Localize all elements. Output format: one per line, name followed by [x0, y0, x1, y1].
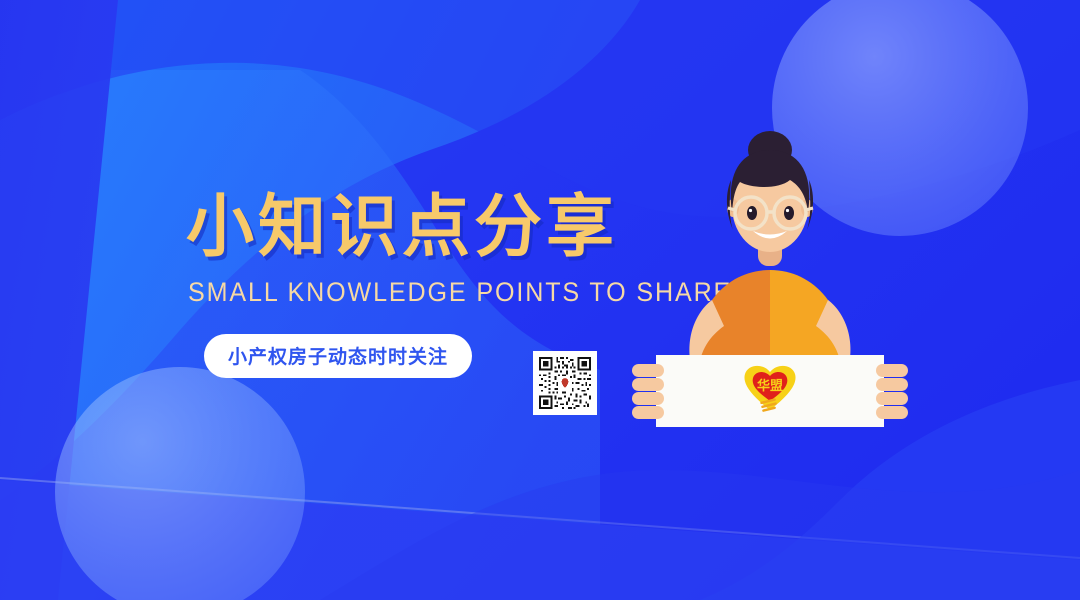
- logo-text: 华盟: [757, 378, 783, 394]
- promo-banner: 小知识点分享 SMALL KNOWLEDGE POINTS TO SHARE 小…: [0, 0, 1080, 600]
- eye-right: [784, 206, 794, 220]
- qr-code[interactable]: [533, 351, 597, 415]
- page-subtitle: SMALL KNOWLEDGE POINTS TO SHARE: [188, 277, 623, 308]
- page-title: 小知识点分享: [186, 192, 656, 263]
- woman-holding-sign-graphic: 华盟: [600, 120, 940, 460]
- qr-code-icon: [537, 355, 593, 411]
- eye-highlight-left: [749, 209, 752, 212]
- character-illustration: 华盟: [600, 120, 940, 460]
- eye-highlight-right: [786, 209, 789, 212]
- tagline-pill[interactable]: 小产权房子动态时时关注: [204, 334, 472, 378]
- eye-left: [747, 206, 757, 220]
